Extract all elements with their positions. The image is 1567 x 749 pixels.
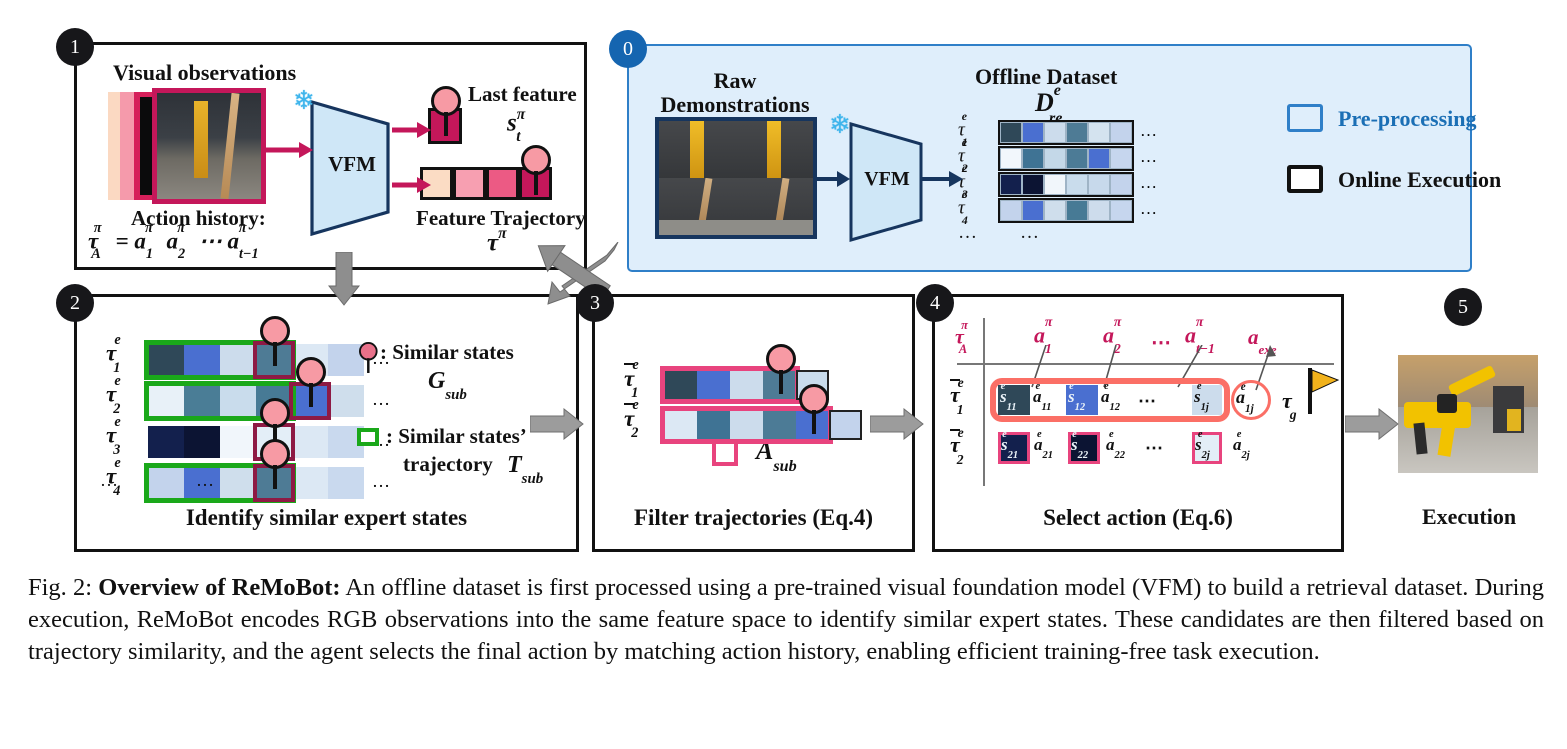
dataset-cell-1-1: [1000, 122, 1022, 143]
step4-tau-a-label: τAπ: [955, 325, 979, 353]
badge-step4: 4: [916, 284, 954, 322]
vfm-block-online: VFM: [306, 100, 394, 236]
badge-step5: 5: [1444, 288, 1482, 326]
step2-row-label-3: τ3e: [106, 422, 130, 453]
vfm-block-offline: VFM: [845, 122, 927, 242]
dataset-cell-4-1: [1000, 200, 1022, 221]
step2-cell-3-3: [220, 426, 256, 458]
caption-prefix: Fig. 2:: [28, 574, 92, 601]
dataset-cell-1-4: [1066, 122, 1088, 143]
dataset-row-4: [998, 198, 1134, 223]
step2-cell-3-5: [292, 426, 328, 458]
step2-title: Identify similar expert states: [74, 505, 579, 531]
step4-row1-label: τ1e: [950, 382, 973, 412]
execution-photo: [1398, 355, 1538, 473]
step4-state-1j-label: s1je: [1194, 387, 1214, 409]
dataset-row-ellipsis-2: …: [1140, 147, 1159, 167]
badge-step3: 3: [576, 284, 614, 322]
dataset-cell-2-6: [1110, 148, 1132, 169]
step3-cell-2-6: [829, 410, 862, 440]
last-feature-symbol: sπt: [507, 108, 530, 141]
dataset-col-ellipsis: …: [1020, 222, 1041, 244]
step2-cell-4-5: [292, 467, 328, 499]
legend-trajectory-swatch: [357, 428, 379, 446]
legend-label-online: Online Execution: [1338, 167, 1501, 193]
dataset-cell-1-6: [1110, 122, 1132, 143]
step5-title: Execution: [1386, 504, 1552, 530]
feature-trajectory-symbol: τπ: [487, 228, 507, 257]
step3-row-label-2: τ2e: [624, 405, 648, 436]
vfm-label-online: VFM: [322, 152, 382, 177]
raw-demos-label-line2: Demonstrations: [632, 92, 838, 118]
step4-action-1j-label: a1je: [1236, 387, 1259, 411]
dataset-cell-3-1: [1000, 174, 1022, 195]
arrow-vfm-to-last-feature: [392, 120, 432, 145]
legend-similar-traj-text-2: trajectory: [403, 452, 493, 477]
offline-dataset-label: Offline Dataset: [975, 64, 1117, 90]
dataset-cell-3-5: [1088, 174, 1110, 195]
dataset-row-ellipsis-1: …: [1140, 121, 1159, 141]
dataset-cell-4-4: [1066, 200, 1088, 221]
step3-row-label-1: τ1e: [624, 365, 648, 396]
raw-demos-label-line1: Raw: [645, 68, 825, 94]
step4-state-22-label: s22e: [1071, 435, 1093, 457]
step4-state-11-label: s11e: [1000, 387, 1021, 409]
arrow-vfm-to-feature-trajectory: [392, 175, 432, 200]
step4-vertical-axis: [983, 318, 985, 486]
dataset-cell-4-3: [1044, 200, 1066, 221]
step4-action-22-label: a22e: [1106, 435, 1130, 457]
figure-caption: Fig. 2: Overview of ReMoBot: An offline …: [28, 572, 1544, 668]
feature-traj-cell-2: [453, 167, 486, 200]
last-feature-label: Last feature: [468, 82, 577, 107]
dataset-cell-1-2: [1022, 122, 1044, 143]
legend-swatch-online: [1287, 165, 1323, 193]
dataset-row-1: [998, 120, 1134, 145]
legend-similar-states-symbol: Gsub: [428, 368, 467, 399]
vfm-label-offline: VFM: [857, 168, 917, 191]
badge-step0: 0: [609, 30, 647, 68]
step4-state-21-label: s21e: [1001, 435, 1023, 457]
dataset-row-ellipsis: …: [958, 222, 979, 244]
arrow-obs-to-vfm: [266, 140, 314, 165]
dataset-cell-4-2: [1022, 200, 1044, 221]
step4-row2-ellipsis: ⋯: [1145, 438, 1163, 459]
step2-row-label-2: τ2e: [106, 381, 130, 412]
step2-row-ellipsis-4: …: [372, 471, 393, 492]
step4-action-11-label: a11e: [1033, 387, 1056, 409]
dataset-cell-3-2: [1022, 174, 1044, 195]
dataset-cell-2-4: [1066, 148, 1088, 169]
badge-step1: 1: [56, 28, 94, 66]
legend-similar-traj-text-1: : Similar states’: [386, 424, 527, 449]
frozen-snowflake-icon-offline: ❄: [829, 112, 851, 138]
figure-canvas: 1 Visual observations ❄ VFM Last feature…: [0, 0, 1567, 749]
step4-action-21-label: a21e: [1034, 435, 1058, 457]
dataset-row-2: [998, 146, 1134, 171]
step4-action-2j-label: a2je: [1233, 435, 1254, 457]
dataset-cell-4-6: [1110, 200, 1132, 221]
goal-flag-icon: [1308, 368, 1342, 419]
dataset-cell-1-5: [1088, 122, 1110, 143]
legend-similar-traj-symbol: Tsub: [507, 452, 543, 483]
dataset-cell-3-3: [1044, 174, 1066, 195]
legend-swatch-preprocessing: [1287, 104, 1323, 132]
step2-cell-2-6: [328, 385, 364, 417]
arrow-demos-to-vfm: [815, 170, 851, 193]
dataset-row-3: [998, 172, 1134, 197]
dataset-row-ellipsis-3: …: [1140, 173, 1159, 193]
step2-row-label-1: τ1e: [106, 340, 130, 371]
raw-demonstrations-grid: [655, 117, 817, 239]
dataset-row-label-4: τ4e: [958, 196, 976, 222]
dataset-cell-2-1: [1000, 148, 1022, 169]
step4-action-12-label: a12e: [1101, 387, 1125, 409]
step2-cell-4-6: [328, 467, 364, 499]
arrow-step3-to-step4: [870, 408, 924, 440]
step2-cell-3-1: [148, 426, 184, 458]
step2-cell-3-2: [184, 426, 220, 458]
dataset-cell-4-5: [1088, 200, 1110, 221]
step4-state-2j-label: s2je: [1195, 435, 1215, 457]
action-history-equation: τAπ= a1π a2π ⋯ at−1π: [88, 228, 266, 259]
dataset-cell-2-3: [1044, 148, 1066, 169]
step3-title: Filter trajectories (Eq.4): [592, 505, 915, 531]
step2-row-ellipsis-2: …: [372, 389, 393, 410]
caption-bold: Overview of ReMoBot:: [98, 574, 340, 601]
observation-frame-current: [152, 88, 266, 204]
visual-observations-label: Visual observations: [113, 60, 296, 86]
dataset-cell-3-6: [1110, 174, 1132, 195]
step2-rows-ellipsis: …: [100, 470, 121, 491]
step4-tau-g-label: τg: [1282, 388, 1299, 417]
arrow-step2-to-step3: [530, 408, 584, 440]
offline-dataset-symbol: Dere: [1035, 88, 1074, 122]
feature-traj-cell-3: [486, 167, 519, 200]
legend-label-preprocessing: Pre-processing: [1338, 106, 1477, 132]
step4-row2-label: τ2e: [950, 432, 973, 462]
frozen-snowflake-icon: ❄: [293, 88, 315, 114]
step4-row1-ellipsis: ⋯: [1138, 391, 1156, 412]
dataset-cell-1-3: [1044, 122, 1066, 143]
step4-title: Select action (Eq.6): [932, 505, 1344, 531]
step4-state-12-label: s12e: [1068, 387, 1090, 409]
legend-similar-states-text: : Similar states: [380, 340, 514, 365]
dataset-cell-3-4: [1066, 174, 1088, 195]
badge-step2: 2: [56, 284, 94, 322]
dataset-cell-2-2: [1022, 148, 1044, 169]
dataset-cell-2-5: [1088, 148, 1110, 169]
dataset-row-ellipsis-4: …: [1140, 199, 1159, 219]
arrow-step4-to-step5: [1345, 408, 1399, 440]
arrow-vfm-to-dataset: [922, 170, 964, 193]
arrow-step1-to-step2: [328, 252, 360, 306]
